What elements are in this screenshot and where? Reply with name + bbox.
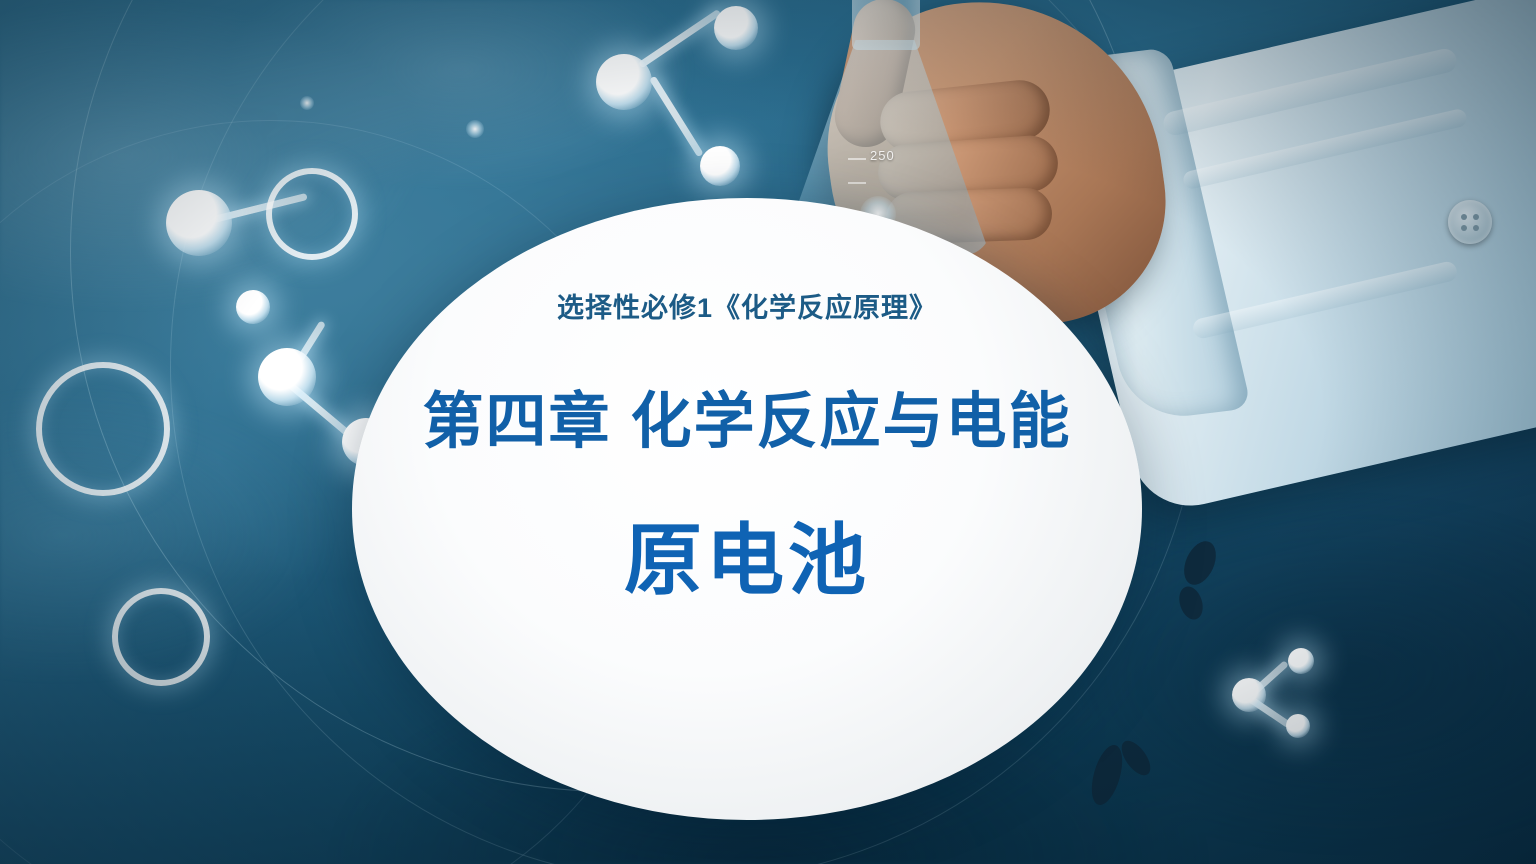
course-subtitle: 选择性必修1《化学反应原理》: [557, 286, 937, 325]
lesson-title: 原电池: [624, 498, 870, 610]
page-title: 第四章 化学反应与电能: [423, 371, 1072, 460]
title-block: 选择性必修1《化学反应原理》 第四章 化学反应与电能 原电池: [352, 198, 1142, 820]
presentation-slide: 250 选择性必修1《化学反应原理: [0, 0, 1536, 864]
